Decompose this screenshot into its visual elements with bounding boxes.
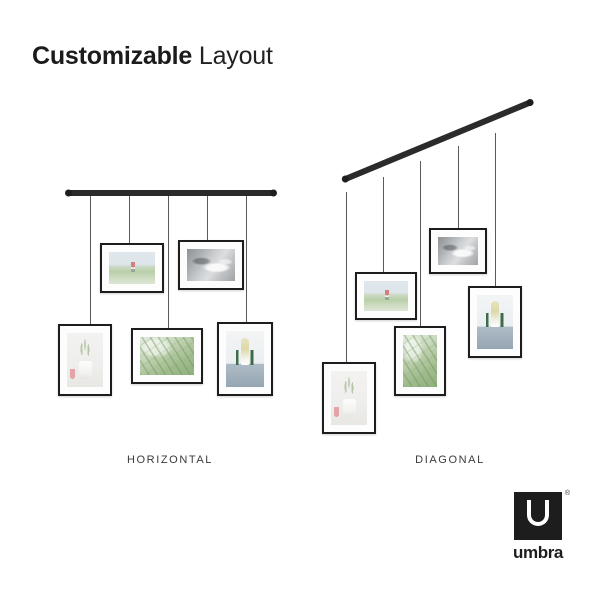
photo-palm-fronds — [403, 335, 437, 387]
umbra-logo-mark-icon: ® — [514, 492, 562, 540]
frame-mat — [60, 326, 110, 394]
caption-horizontal: HORIZONTAL — [60, 454, 280, 466]
registered-trademark-symbol: ® — [565, 490, 570, 497]
hanging-wire — [495, 133, 496, 286]
photo-greyscale-abstract — [438, 237, 478, 265]
brand-name: umbra — [508, 543, 568, 563]
picture-frame-portrait — [58, 324, 112, 396]
hanging-wire — [458, 146, 459, 228]
frame-mat — [396, 328, 444, 394]
hanging-wire — [383, 177, 384, 272]
frame-mat — [470, 288, 520, 356]
photo-potted-plant — [331, 371, 367, 425]
picture-frame-landscape — [355, 272, 417, 320]
layout-illustration-horizontal — [40, 170, 300, 430]
frame-mat — [219, 324, 271, 394]
picture-frame-landscape — [100, 243, 164, 293]
photo-bottle — [477, 295, 513, 349]
rail-end-cap-left-icon — [341, 174, 350, 183]
rail-end-cap-right-icon — [270, 190, 277, 197]
photo-person-in-field — [364, 281, 408, 311]
picture-frame-portrait — [217, 322, 273, 396]
hanging-wire — [90, 196, 91, 324]
page-title-light: Layout — [192, 42, 273, 70]
picture-frame-portrait — [468, 286, 522, 358]
umbra-u-glyph-icon — [527, 500, 549, 526]
rail-end-cap-left-icon — [65, 190, 72, 197]
hanging-wire — [129, 196, 130, 243]
product-feature-image: Customizable Layout — [0, 0, 600, 600]
layout-illustration-diagonal — [310, 130, 570, 430]
picture-frame-landscape — [131, 328, 203, 384]
frame-mat — [102, 245, 162, 291]
caption-diagonal: DIAGONAL — [340, 454, 560, 466]
frame-mat — [180, 242, 242, 288]
hanging-wire — [420, 161, 421, 326]
hanging-wire — [168, 196, 169, 328]
photo-greyscale-abstract — [187, 249, 235, 281]
hanging-wire — [346, 192, 347, 362]
rail-end-cap-right-icon — [526, 98, 535, 107]
brand-logo: ® umbra — [508, 492, 568, 563]
picture-frame-portrait — [394, 326, 446, 396]
photo-palm-fronds — [140, 337, 194, 375]
frame-mat — [133, 330, 201, 382]
hanging-wire — [207, 196, 208, 240]
hanging-rail-diagonal — [342, 99, 534, 183]
page-title: Customizable Layout — [32, 41, 273, 71]
photo-bottle — [226, 331, 264, 387]
frame-mat — [324, 364, 374, 432]
frame-mat — [357, 274, 415, 318]
picture-frame-landscape — [178, 240, 244, 290]
picture-frame-portrait — [322, 362, 376, 434]
page-title-strong: Customizable — [32, 42, 192, 70]
hanging-rail-diagonal-wrapper — [343, 145, 543, 215]
frame-mat — [431, 230, 485, 272]
photo-person-in-field — [109, 252, 155, 284]
photo-potted-plant — [67, 333, 103, 387]
hanging-rail-horizontal — [66, 190, 276, 196]
hanging-wire — [246, 196, 247, 322]
picture-frame-landscape — [429, 228, 487, 274]
